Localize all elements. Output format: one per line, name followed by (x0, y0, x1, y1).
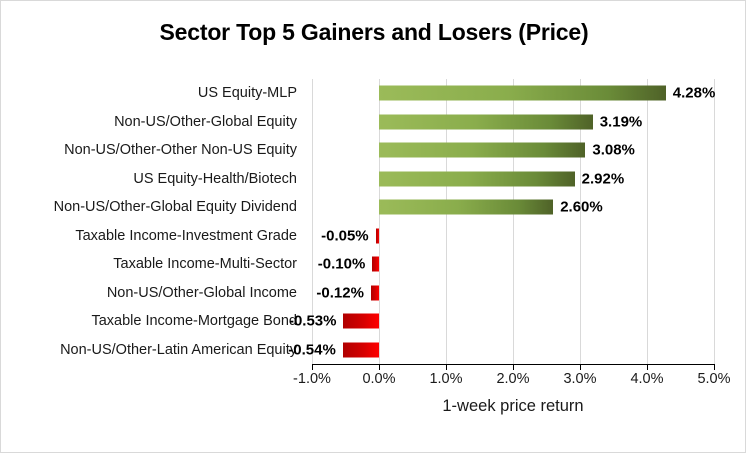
chart-bar-row: US Equity-Health/Biotech2.92% (1, 165, 746, 194)
category-label: US Equity-MLP (198, 85, 297, 101)
chart-bar-row: Non-US/Other-Global Equity Dividend2.60% (1, 193, 746, 222)
category-label: Non-US/Other-Latin American Equity (60, 342, 297, 358)
bar-value-label: -0.10% (318, 256, 366, 273)
chart-bar-row: Non-US/Other-Global Equity3.19% (1, 108, 746, 137)
category-label: Taxable Income-Mortgage Bond (91, 313, 297, 329)
category-label: US Equity-Health/Biotech (133, 171, 297, 187)
chart-bar-row: Taxable Income-Investment Grade-0.05% (1, 222, 746, 251)
x-axis-title: 1-week price return (312, 397, 714, 416)
bar-value-label: 4.28% (673, 85, 716, 102)
chart-bar-row: Taxable Income-Multi-Sector-0.10% (1, 250, 746, 279)
x-axis-tick (647, 364, 648, 370)
bar-positive[interactable] (379, 171, 575, 186)
bar-value-label: 2.92% (582, 170, 625, 187)
category-label: Taxable Income-Investment Grade (75, 228, 297, 244)
category-label: Non-US/Other-Global Equity Dividend (54, 199, 297, 215)
x-axis-tick (714, 364, 715, 370)
bar-negative[interactable] (372, 257, 379, 272)
bar-value-label: 2.60% (560, 199, 603, 216)
bar-positive[interactable] (379, 200, 553, 215)
x-axis-tick (513, 364, 514, 370)
x-axis-tick (446, 364, 447, 370)
x-axis-tick (580, 364, 581, 370)
bar-positive[interactable] (379, 86, 666, 101)
bar-negative[interactable] (343, 314, 379, 329)
chart-bar-row: Non-US/Other-Latin American Equity-0.54% (1, 336, 746, 365)
chart-bar-row: Non-US/Other-Other Non-US Equity3.08% (1, 136, 746, 165)
chart-bar-row: Non-US/Other-Global Income-0.12% (1, 279, 746, 308)
category-label: Non-US/Other-Other Non-US Equity (64, 142, 297, 158)
category-label: Taxable Income-Multi-Sector (113, 256, 297, 272)
bar-negative[interactable] (343, 342, 379, 357)
x-axis-tick (312, 364, 313, 370)
bar-value-label: -0.53% (289, 313, 337, 330)
chart-container: Sector Top 5 Gainers and Losers (Price) … (0, 0, 746, 453)
bar-value-label: -0.54% (288, 341, 336, 358)
x-axis-tick (379, 364, 380, 370)
bar-negative[interactable] (376, 228, 379, 243)
x-axis-tick-label: 5.0% (674, 371, 746, 387)
chart-bar-row: Taxable Income-Mortgage Bond-0.53% (1, 307, 746, 336)
bar-positive[interactable] (379, 143, 585, 158)
bar-positive[interactable] (379, 114, 593, 129)
bar-value-label: -0.12% (316, 284, 364, 301)
bar-negative[interactable] (371, 285, 379, 300)
bar-value-label: 3.19% (600, 113, 643, 130)
category-label: Non-US/Other-Global Income (107, 285, 297, 301)
chart-title: Sector Top 5 Gainers and Losers (Price) (1, 19, 746, 46)
chart-bar-row: US Equity-MLP4.28% (1, 79, 746, 108)
category-label: Non-US/Other-Global Equity (114, 114, 297, 130)
bar-value-label: -0.05% (321, 227, 369, 244)
bar-value-label: 3.08% (592, 142, 635, 159)
